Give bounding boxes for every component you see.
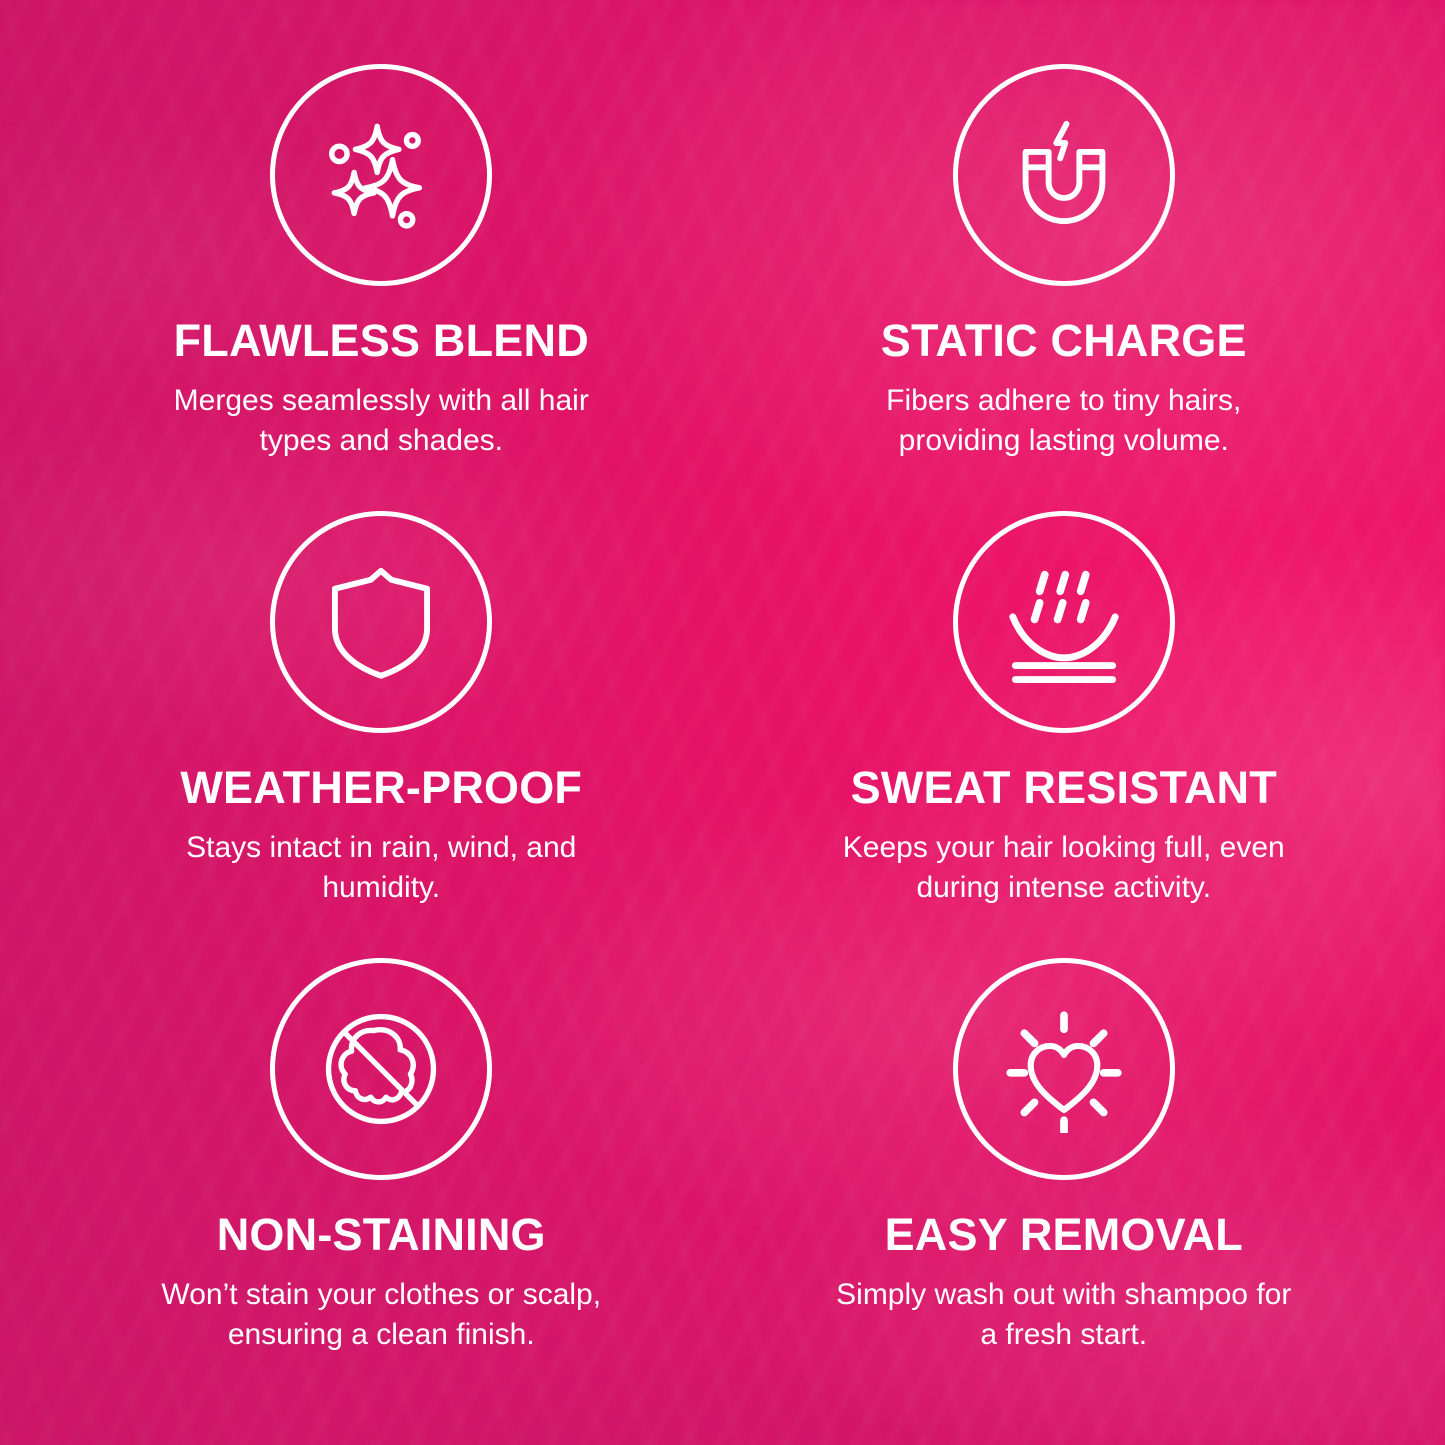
feature-description: Keeps your hair looking full, even durin…: [829, 828, 1299, 908]
feature-description: Merges seamlessly with all hair types an…: [146, 381, 616, 461]
shield-icon: [317, 558, 445, 686]
shining-heart-icon: [1000, 1005, 1128, 1133]
feature-card-flawless-blend: FLAWLESS BLEND Merges seamlessly with al…: [40, 58, 723, 505]
feature-description: Stays intact in rain, wind, and humidity…: [146, 828, 616, 908]
icon-ring: [953, 958, 1175, 1180]
feature-card-non-staining: NON-STAINING Won’t stain your clothes or…: [40, 952, 723, 1399]
icon-ring: [953, 511, 1175, 733]
feature-title: WEATHER-PROOF: [180, 765, 582, 811]
feature-card-static-charge: STATIC CHARGE Fibers adhere to tiny hair…: [723, 58, 1406, 505]
feature-title: FLAWLESS BLEND: [174, 318, 589, 364]
icon-ring: [270, 511, 492, 733]
no-stain-icon: [317, 1005, 445, 1133]
feature-card-easy-removal: EASY REMOVAL Simply wash out with shampo…: [723, 952, 1406, 1399]
feature-description: Fibers adhere to tiny hairs, providing l…: [829, 381, 1299, 461]
icon-ring: [270, 958, 492, 1180]
sparkle-icon: [317, 111, 445, 239]
magnet-icon: [1000, 111, 1128, 239]
feature-grid-infographic: FLAWLESS BLEND Merges seamlessly with al…: [0, 0, 1445, 1445]
feature-title: STATIC CHARGE: [881, 318, 1247, 364]
icon-ring: [270, 64, 492, 286]
features-grid: FLAWLESS BLEND Merges seamlessly with al…: [0, 0, 1445, 1445]
feature-description: Won’t stain your clothes or scalp, ensur…: [146, 1275, 616, 1355]
feature-title: EASY REMOVAL: [885, 1212, 1243, 1258]
feature-card-sweat-resistant: SWEAT RESISTANT Keeps your hair looking …: [723, 505, 1406, 952]
feature-card-weather-proof: WEATHER-PROOF Stays intact in rain, wind…: [40, 505, 723, 952]
feature-title: SWEAT RESISTANT: [851, 765, 1277, 811]
icon-ring: [953, 64, 1175, 286]
sweat-repel-icon: [1000, 558, 1128, 686]
feature-title: NON-STAINING: [217, 1212, 546, 1258]
feature-description: Simply wash out with shampoo for a fresh…: [829, 1275, 1299, 1355]
